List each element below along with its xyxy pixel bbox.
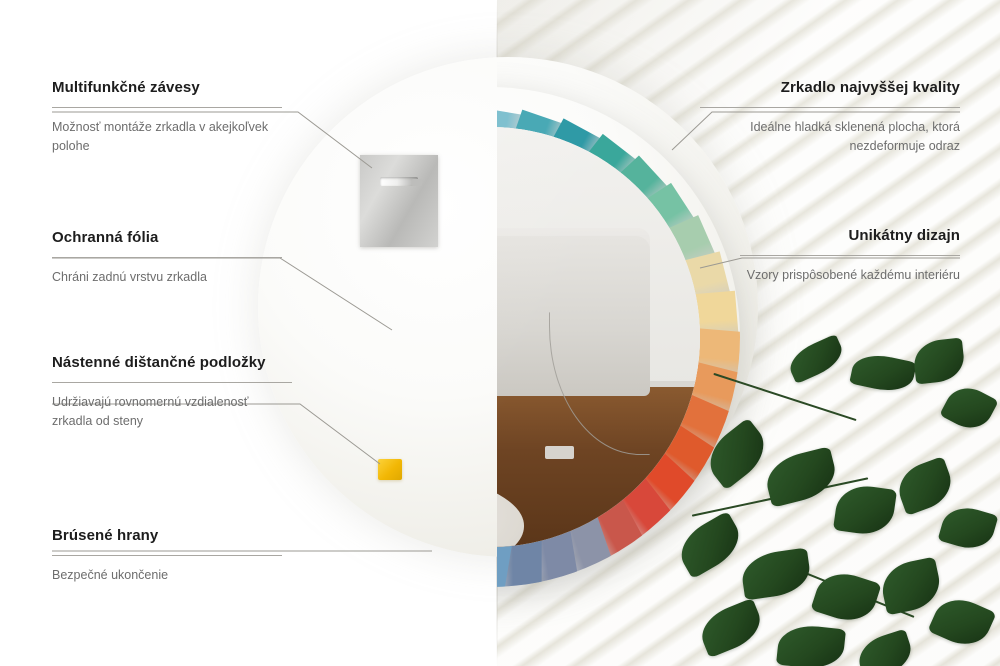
feature-body: Vzory prispôsobené každému interiéru [740, 266, 960, 285]
feature-title: Nástenné dištančné podložky [52, 353, 292, 373]
infographic-root: Multifunkčné závesy Možnosť montáže zrka… [0, 0, 1000, 666]
feature-rule [52, 382, 292, 383]
foliage-decoration [670, 336, 1000, 666]
feature-body: Možnosť montáže zrkadla v akejkoľvek pol… [52, 118, 282, 157]
feature-rule [52, 107, 282, 108]
feature-title: Brúsené hrany [52, 526, 282, 546]
feature-rule [52, 257, 282, 258]
feature-rule [740, 255, 960, 256]
feature-body: Udržiavajú rovnomernú vzdialenosť zrkadl… [52, 393, 292, 432]
feature-title: Multifunkčné závesy [52, 78, 282, 98]
feature-rule [700, 107, 960, 108]
feature-block-unikatny-dizajn: Unikátny dizajn Vzory prispôsobené každé… [740, 226, 960, 285]
feature-body: Chráni zadnú vrstvu zrkadla [52, 268, 282, 287]
feature-title: Unikátny dizajn [740, 226, 960, 246]
feature-block-multifunkcne-zavesy: Multifunkčné závesy Možnosť montáže zrka… [52, 78, 282, 157]
feature-rule [52, 555, 282, 556]
feature-title: Zrkadlo najvyššej kvality [700, 78, 960, 98]
feature-body: Ideálne hladká sklenená plocha, ktorá ne… [700, 118, 960, 157]
feature-block-nastenne-distancne-podlozky: Nástenné dištančné podložky Udržiavajú r… [52, 353, 292, 432]
feature-block-brusene-hrany: Brúsené hrany Bezpečné ukončenie [52, 526, 282, 585]
feature-body: Bezpečné ukončenie [52, 566, 282, 585]
feature-title: Ochranná fólia [52, 228, 282, 248]
feature-block-ochranna-folia: Ochranná fólia Chráni zadnú vrstvu zrkad… [52, 228, 282, 287]
feature-block-zrkadlo-najvyssej-kvality: Zrkadlo najvyššej kvality Ideálne hladká… [700, 78, 960, 157]
